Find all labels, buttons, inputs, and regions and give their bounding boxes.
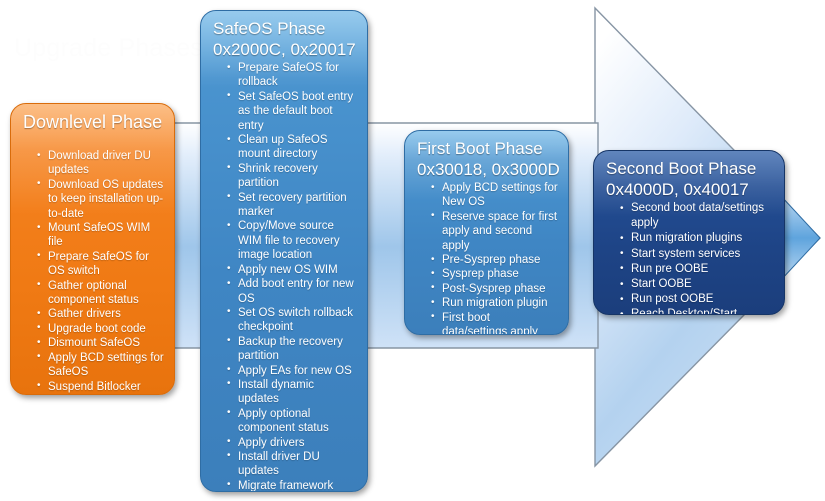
phase-step: Start OOBE	[620, 277, 774, 292]
phase-step: Set SafeOS boot entry as the default boo…	[227, 90, 357, 133]
phase-step: Second boot data/settings apply	[620, 201, 774, 231]
phase-step: Gather optional component status	[37, 279, 164, 308]
phase-step: Clean up SafeOS mount directory	[227, 133, 357, 162]
phase-step: Migrate framework (Full)	[227, 479, 357, 492]
phase-step: Run migration plugins	[620, 231, 774, 246]
phase-step-list-safeos: Prepare SafeOS for rollback Set SafeOS b…	[213, 61, 357, 492]
phase-step: Download driver DU updates	[37, 149, 164, 178]
phase-step: Backup the recovery partition	[227, 335, 357, 364]
phase-step: Apply new OS WIM	[227, 263, 357, 277]
phase-step: Apply optional component status	[227, 407, 357, 436]
phase-step: Set OS switch rollback checkpoint	[227, 306, 357, 335]
phase-step: Install driver DU updates	[227, 450, 357, 479]
phase-step: Suspend Bitlocker	[37, 380, 164, 394]
phase-step: Post-Sysprep phase	[431, 282, 558, 296]
phase-card-body: First Boot Phase 0x30018, 0x3000D Apply …	[405, 131, 568, 334]
phase-step: Apply drivers	[227, 436, 357, 450]
phase-step: Start system services	[620, 247, 774, 262]
phase-title-firstboot: First Boot Phase	[417, 138, 558, 159]
phase-step: Add boot entry for new OS	[227, 277, 357, 306]
phase-step: First boot data/settings apply	[431, 311, 558, 335]
phase-step: Download OS updates to keep installation…	[37, 178, 164, 221]
phase-title-safeos: SafeOS Phase	[213, 18, 357, 39]
phase-step: Prepare SafeOS for rollback	[227, 61, 357, 90]
phase-card-safeos[interactable]: SafeOS Phase 0x2000C, 0x20017 Prepare Sa…	[200, 10, 368, 492]
phase-step: Apply BCD settings for SafeOS	[37, 351, 164, 380]
arrow-tip-accent	[781, 196, 820, 280]
phase-step: Shrink recovery partition	[227, 162, 357, 191]
phase-step: Gather drivers	[37, 307, 164, 321]
phase-step-list-downlevel: Download driver DU updates Download OS u…	[23, 149, 164, 395]
phase-step: Apply EAs for new OS	[227, 364, 357, 378]
phase-step: Reach Desktop/Start screen	[620, 307, 774, 315]
phase-step: Apply BCD settings for New OS	[431, 181, 558, 210]
phase-card-downlevel[interactable]: Downlevel Phase Download driver DU updat…	[10, 103, 175, 395]
phase-card-secondboot[interactable]: Second Boot Phase 0x4000D, 0x40017 Secon…	[593, 150, 785, 315]
phase-step: Copy/Move source WIM file to recovery im…	[227, 219, 357, 262]
phase-step-list-firstboot: Apply BCD settings for New OS Reserve sp…	[417, 181, 558, 335]
phase-step: Install dynamic updates	[227, 378, 357, 407]
phase-card-body: Downlevel Phase Download driver DU updat…	[11, 104, 174, 394]
phase-card-body: Second Boot Phase 0x4000D, 0x40017 Secon…	[594, 151, 784, 314]
phase-title-downlevel: Downlevel Phase	[23, 111, 164, 133]
phase-card-body: SafeOS Phase 0x2000C, 0x20017 Prepare Sa…	[201, 11, 367, 491]
phase-step: Upgrade boot code	[37, 322, 164, 336]
phase-step: Reserve space for first apply and second…	[431, 210, 558, 253]
phase-card-firstboot[interactable]: First Boot Phase 0x30018, 0x3000D Apply …	[404, 130, 569, 335]
phase-step: Mount SafeOS WIM file	[37, 221, 164, 250]
phase-step-reboot: Reboot the device	[37, 394, 164, 395]
phase-step: Run post OOBE	[620, 292, 774, 307]
upgrade-phases-diagram: Upgrade Phases Downlevel Phase Download …	[0, 0, 825, 501]
phase-step: Set recovery partition marker	[227, 191, 357, 220]
phase-step: Sysprep phase	[431, 267, 558, 281]
phase-step: Prepare SafeOS for OS switch	[37, 250, 164, 279]
phase-title-secondboot: Second Boot Phase	[606, 158, 774, 179]
phase-code-secondboot: 0x4000D, 0x40017	[606, 179, 774, 200]
phase-step: Pre-Sysprep phase	[431, 253, 558, 267]
phase-step: Run pre OOBE	[620, 262, 774, 277]
phase-step: Run migration plugin	[431, 296, 558, 310]
phase-step-list-secondboot: Second boot data/settings apply Run migr…	[606, 201, 774, 315]
phase-code-firstboot: 0x30018, 0x3000D	[417, 159, 558, 180]
phase-step: Dismount SafeOS	[37, 336, 164, 350]
phase-code-safeos: 0x2000C, 0x20017	[213, 39, 357, 60]
watermark-title: Upgrade Phases	[14, 34, 203, 63]
